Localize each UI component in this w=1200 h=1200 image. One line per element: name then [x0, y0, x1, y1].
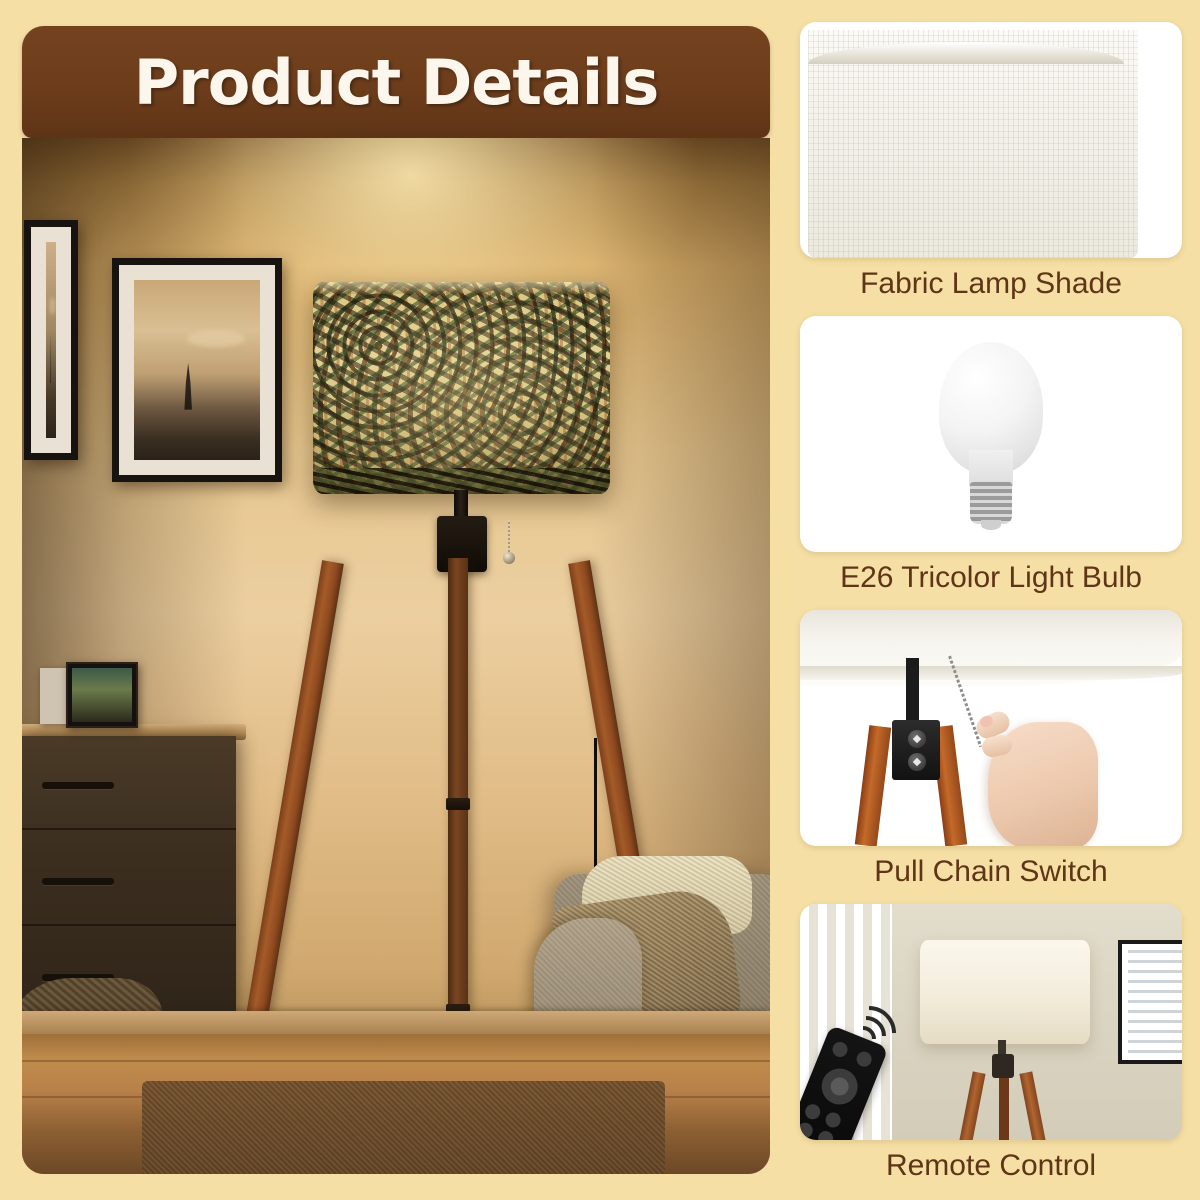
- baseboard: [22, 1011, 770, 1034]
- shade-edge: [800, 666, 1182, 680]
- detail-item-remote-control[interactable]: Remote Control: [800, 904, 1182, 1192]
- remote-button: [854, 1049, 874, 1069]
- floor-seam: [22, 1060, 770, 1062]
- tripod-leg-center: [999, 1072, 1009, 1140]
- frame-artwork: [46, 242, 56, 438]
- framed-art-left: [24, 220, 78, 460]
- framed-photo-on-dresser: [66, 662, 138, 728]
- remote-button: [823, 1110, 843, 1130]
- product-details-infographic: Product Details: [0, 0, 1200, 1200]
- area-rug: [142, 1081, 666, 1174]
- drawer-divider: [22, 828, 236, 830]
- pull-chain-switch-thumbnail[interactable]: [800, 610, 1182, 846]
- remote-control-thumbnail[interactable]: [800, 904, 1182, 1140]
- drawer-pull: [42, 782, 114, 789]
- fabric-lamp-shade-thumbnail[interactable]: [800, 22, 1182, 258]
- detail-item-light-bulb[interactable]: E26 Tricolor Light Bulb: [800, 316, 1182, 604]
- framed-art: [1118, 940, 1182, 1064]
- detail-item-pull-chain-switch[interactable]: Pull Chain Switch: [800, 610, 1182, 898]
- screw-icon: [908, 753, 926, 771]
- remote-button: [800, 1121, 815, 1140]
- bulb-screw-base: [970, 482, 1012, 524]
- drawer-pull: [42, 878, 114, 885]
- tripod-leg-left: [855, 725, 891, 846]
- detail-label-fabric-lamp-shade: Fabric Lamp Shade: [800, 258, 1182, 310]
- remote-dial-button: [816, 1063, 863, 1110]
- shade-glow: [313, 282, 610, 494]
- detail-label-light-bulb: E26 Tricolor Light Bulb: [800, 552, 1182, 604]
- detail-item-fabric-lamp-shade[interactable]: Fabric Lamp Shade: [800, 22, 1182, 310]
- page-title: Product Details: [134, 46, 659, 119]
- drawer-divider: [22, 924, 236, 926]
- detail-callouts-column: Fabric Lamp Shade E26 Tricolor Light Bul…: [800, 22, 1182, 1198]
- leg-band: [446, 798, 470, 810]
- bulb-tip: [981, 520, 1001, 530]
- detail-label-remote-control: Remote Control: [800, 1140, 1182, 1192]
- lamp-shade-butterfly-pattern: [313, 282, 610, 494]
- detail-label-pull-chain-switch: Pull Chain Switch: [800, 846, 1182, 898]
- frame-artwork: [134, 280, 260, 460]
- screw-icon: [908, 730, 926, 748]
- lamp-shade: [920, 940, 1090, 1044]
- pull-chain: [508, 520, 510, 554]
- shade-top-rim: [313, 282, 610, 294]
- light-bulb-icon: [939, 342, 1043, 532]
- fabric-texture-closeup-icon: [808, 30, 1138, 258]
- remote-button: [803, 1102, 823, 1122]
- switch-bracket: [892, 720, 940, 780]
- title-banner: Product Details: [22, 26, 770, 138]
- main-product-photo: [22, 138, 770, 1174]
- remote-button: [830, 1040, 850, 1060]
- remote-button: [816, 1129, 836, 1140]
- light-bulb-thumbnail[interactable]: [800, 316, 1182, 552]
- left-panel: Product Details: [22, 26, 770, 1174]
- lamp-bracket: [992, 1054, 1014, 1078]
- pull-chain-knob: [503, 552, 515, 564]
- framed-art-landscape: [112, 258, 282, 482]
